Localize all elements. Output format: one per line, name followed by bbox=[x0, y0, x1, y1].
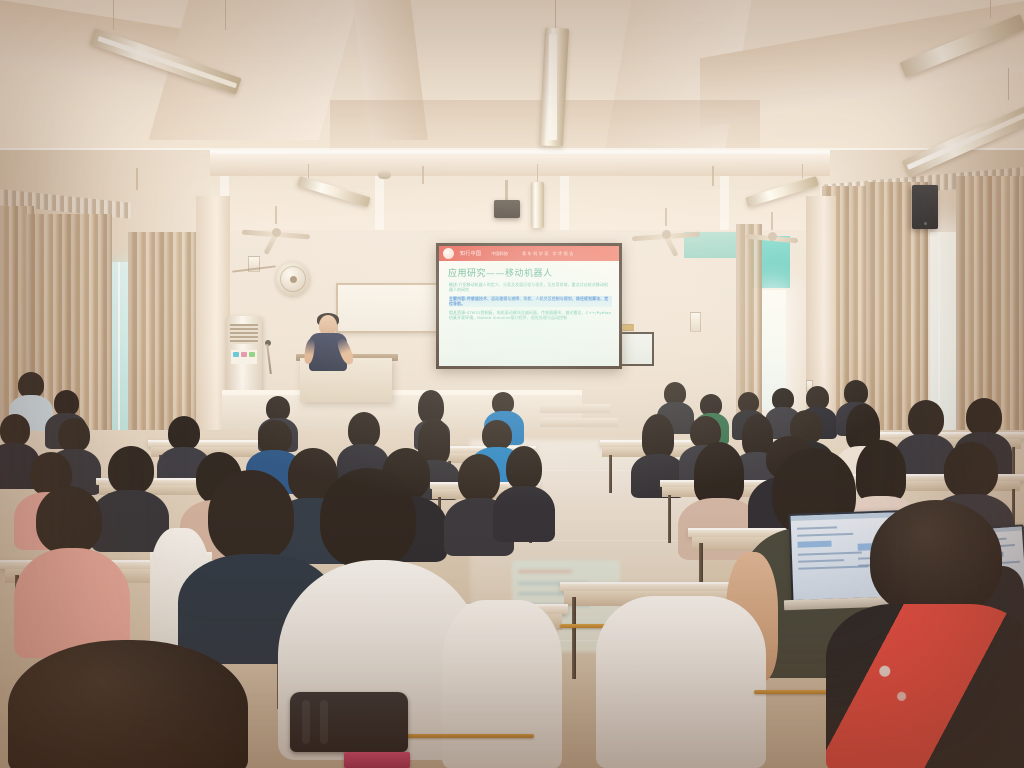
stage-platform-edge bbox=[222, 390, 582, 395]
slide-title: 应用研究——移动机器人 bbox=[448, 266, 619, 279]
projection-screen: 知行中国 中国科协 青年科学家 学术报告 应用研究——移动机器人 概述:介绍移动… bbox=[436, 243, 622, 369]
pendant-fluorescent-center bbox=[540, 28, 570, 148]
ceiling-fan-center bbox=[630, 224, 702, 244]
wall-fan bbox=[276, 262, 310, 296]
pink-pencil-case bbox=[344, 752, 410, 768]
ceiling-fan-left bbox=[240, 222, 312, 242]
stage-step-2 bbox=[540, 418, 618, 427]
ceiling-projector bbox=[494, 200, 520, 218]
backpack bbox=[290, 692, 408, 752]
slide-content: 知行中国 中国科协 青年科学家 学术报告 应用研究——移动机器人 概述:介绍移动… bbox=[439, 246, 619, 366]
pendant-fluorescent-back-left bbox=[300, 176, 374, 216]
smoke-detector-icon bbox=[378, 170, 391, 179]
slide-banner-sub-text: 中国科协 bbox=[491, 251, 508, 257]
slide-banner-right-text: 青年科学家 学术报告 bbox=[522, 251, 575, 257]
slide-paragraph: 主要内容:传感器技术、运动建模与避障、导航、人机交互控制与规划、路径规划算法、定… bbox=[449, 296, 612, 307]
lecturer bbox=[305, 315, 351, 373]
ac-sticker-pink bbox=[241, 352, 247, 357]
wall-switch-box bbox=[690, 312, 701, 332]
pendant-fluorescent-right bbox=[888, 96, 1024, 206]
ceiling-fan-right bbox=[744, 228, 800, 244]
pendant-lamp-center-back bbox=[528, 182, 546, 230]
ac-sticker-green bbox=[249, 352, 255, 357]
slide-paragraph: 概述:介绍移动机器人的定义、分类及发展历程与现状，及应用领域，重点讨论轮式移动机… bbox=[449, 282, 612, 293]
ac-vent bbox=[230, 324, 258, 344]
whiteboard bbox=[336, 283, 448, 333]
pendant-fluorescent-far-right bbox=[890, 14, 1020, 109]
slide-banner-logo-text: 知行中国 bbox=[460, 250, 481, 257]
pendant-fluorescent-back-right bbox=[742, 176, 816, 216]
classroom-photo: 知行中国 中国科协 青年科学家 学术报告 应用研究——移动机器人 概述:介绍移动… bbox=[0, 0, 1024, 768]
slide-banner: 知行中国 中国科协 青年科学家 学术报告 bbox=[439, 246, 619, 261]
wall-speaker bbox=[912, 185, 938, 229]
slide-body: 概述:介绍移动机器人的定义、分类及发展历程与现状，及应用领域，重点讨论轮式移动机… bbox=[439, 282, 619, 320]
projector-mount bbox=[505, 180, 508, 202]
ac-sticker-blue bbox=[233, 352, 239, 357]
slide-logo-icon bbox=[443, 248, 454, 259]
slide-paragraph: 相关资源:STM32控制板、电机驱动模块及编码器、传感器模块、激光雷达、C++/… bbox=[449, 310, 612, 321]
stage-step-1 bbox=[540, 404, 610, 413]
pendant-fluorescent-left bbox=[95, 28, 250, 128]
chair-backrest bbox=[394, 734, 534, 738]
